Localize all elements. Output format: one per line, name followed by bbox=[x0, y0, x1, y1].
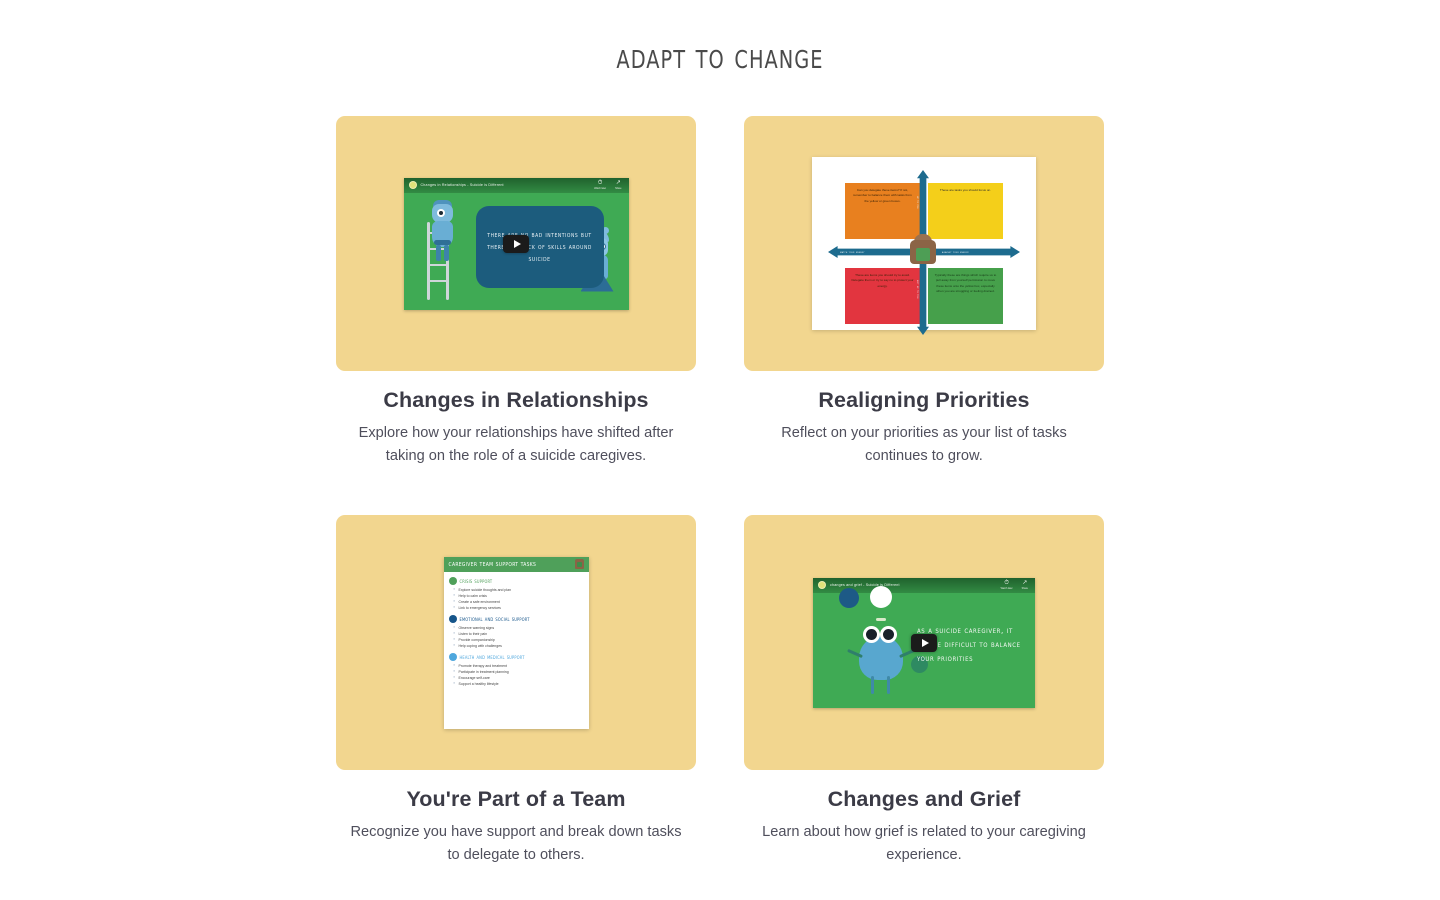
section-title: Crisis Support bbox=[460, 577, 493, 585]
share-icon: ↗ bbox=[616, 180, 621, 186]
axis-label-left: Match your energy bbox=[840, 250, 865, 254]
card-description: Reflect on your priorities as your list … bbox=[744, 422, 1104, 468]
tasklist-header: Caregiver Team Support Tasks bbox=[444, 557, 589, 572]
matrix-quadrant-bottom-left: These are items you should try to avoid.… bbox=[845, 268, 920, 324]
video-caption-text: There are no bad intentions but there is… bbox=[483, 229, 597, 265]
tasklist-body: Crisis Support Explore suicide thoughts … bbox=[444, 572, 589, 687]
tasklist-section-health-medical-support: Health and Medical Support Promote thera… bbox=[449, 653, 584, 687]
video-caption-box: There are no bad intentions but there is… bbox=[476, 206, 604, 288]
quadrant-text: These are items you should try to avoid.… bbox=[851, 273, 914, 289]
axis-label-top: Up to you bbox=[916, 196, 920, 209]
quadrant-text: Can you delegate these items? If not, re… bbox=[851, 188, 914, 204]
crisis-support-icon bbox=[449, 577, 457, 585]
channel-avatar-icon bbox=[409, 181, 417, 189]
section-title: Emotional and Social Support bbox=[460, 615, 530, 623]
card-realigning-priorities[interactable]: Can you delegate these items? If not, re… bbox=[744, 116, 1104, 468]
card-description: Learn about how grief is related to your… bbox=[744, 821, 1104, 867]
video-thumbnail[interactable]: Changes in Relationships - Suicide is Di… bbox=[404, 178, 629, 310]
backpack-icon bbox=[575, 559, 584, 569]
watch-later-action[interactable]: ⏱ Watch later bbox=[594, 180, 606, 190]
video-bar-title: Changes in Relationships - Suicide is Di… bbox=[421, 183, 504, 187]
card-title: Changes in Relationships bbox=[336, 388, 696, 413]
backpack-icon bbox=[909, 234, 937, 264]
share-label: Share bbox=[1022, 587, 1028, 590]
tasklist-section-emotional-social-support: Emotional and Social Support Observe war… bbox=[449, 615, 584, 649]
clock-icon: ⏱ bbox=[598, 180, 603, 186]
video-bar-title: changes and grief - Suicide is Different bbox=[830, 583, 900, 587]
card-grid: Changes in Relationships - Suicide is Di… bbox=[336, 116, 1104, 867]
axis-label-right: Against your energy bbox=[942, 250, 969, 254]
video-thumbnail[interactable]: changes and grief - Suicide is Different… bbox=[813, 578, 1035, 708]
matrix-quadrant-top-right: These are tasks you should focus on. bbox=[928, 183, 1003, 239]
section-items: Promote therapy and treatment Participat… bbox=[449, 663, 584, 687]
quadrant-text: These are tasks you should focus on. bbox=[934, 188, 997, 193]
matrix-quadrant-top-left: Can you delegate these items? If not, re… bbox=[845, 183, 920, 239]
share-label: Share bbox=[615, 187, 621, 190]
watch-later-label: Watch later bbox=[1001, 587, 1013, 590]
list-item: Link to emergency services bbox=[459, 605, 584, 611]
card-changes-in-relationships[interactable]: Changes in Relationships - Suicide is Di… bbox=[336, 116, 696, 468]
play-button[interactable] bbox=[503, 235, 529, 253]
emotional-support-icon bbox=[449, 615, 457, 623]
watch-later-action[interactable]: ⏱ Watch later bbox=[1001, 580, 1013, 590]
tasklist-title: Caregiver Team Support Tasks bbox=[449, 560, 537, 568]
video-topbar: Changes in Relationships - Suicide is Di… bbox=[404, 178, 629, 193]
caregiver-task-list: Caregiver Team Support Tasks Crisis Supp… bbox=[444, 557, 589, 729]
list-item: Help coping with challenges bbox=[459, 643, 584, 649]
video-actions: ⏱ Watch later ↗ Share bbox=[594, 180, 623, 190]
blob-character bbox=[851, 612, 911, 698]
section-items: Explore suicide thoughts and plan Help t… bbox=[449, 587, 584, 611]
watch-later-label: Watch later bbox=[594, 187, 606, 190]
decorative-navy-circle bbox=[839, 588, 859, 608]
clock-icon: ⏱ bbox=[1004, 580, 1009, 586]
share-action[interactable]: ↗ Share bbox=[1022, 580, 1028, 590]
priority-matrix: Can you delegate these items? If not, re… bbox=[812, 157, 1036, 330]
card-thumbnail-frame[interactable]: Can you delegate these items? If not, re… bbox=[744, 116, 1104, 371]
decorative-white-circle bbox=[870, 586, 892, 608]
page-title: Adapt to Change bbox=[101, 37, 1339, 77]
section-items: Observe warning signs Listen to their pa… bbox=[449, 625, 584, 649]
section-title: Health and Medical Support bbox=[460, 653, 525, 661]
card-description: Explore how your relationships have shif… bbox=[336, 422, 696, 468]
card-title: Realigning Priorities bbox=[744, 388, 1104, 413]
quadrant-text: Typically these are things which require… bbox=[934, 273, 997, 295]
card-thumbnail-frame[interactable]: changes and grief - Suicide is Different… bbox=[744, 515, 1104, 770]
play-button[interactable] bbox=[911, 634, 937, 652]
channel-avatar-icon bbox=[818, 581, 826, 589]
share-icon: ↗ bbox=[1022, 580, 1027, 586]
axis-label-bottom: Not up to you bbox=[916, 280, 920, 299]
card-changes-and-grief[interactable]: changes and grief - Suicide is Different… bbox=[744, 515, 1104, 867]
card-thumbnail-frame[interactable]: Caregiver Team Support Tasks Crisis Supp… bbox=[336, 515, 696, 770]
tasklist-section-crisis-support: Crisis Support Explore suicide thoughts … bbox=[449, 577, 584, 611]
page-root: Adapt to Change Changes in Relationships… bbox=[0, 0, 1440, 900]
card-youre-part-of-a-team[interactable]: Caregiver Team Support Tasks Crisis Supp… bbox=[336, 515, 696, 867]
share-action[interactable]: ↗ Share bbox=[615, 180, 621, 190]
card-title: You're Part of a Team bbox=[336, 787, 696, 812]
card-title: Changes and Grief bbox=[744, 787, 1104, 812]
health-support-icon bbox=[449, 653, 457, 661]
matrix-quadrant-bottom-right: Typically these are things which require… bbox=[928, 268, 1003, 324]
character-on-ladder bbox=[428, 200, 458, 262]
list-item: Support a healthy lifestyle bbox=[459, 681, 584, 687]
card-description: Recognize you have support and break dow… bbox=[336, 821, 696, 867]
card-thumbnail-frame[interactable]: Changes in Relationships - Suicide is Di… bbox=[336, 116, 696, 371]
video-actions: ⏱ Watch later ↗ Share bbox=[1001, 580, 1030, 590]
